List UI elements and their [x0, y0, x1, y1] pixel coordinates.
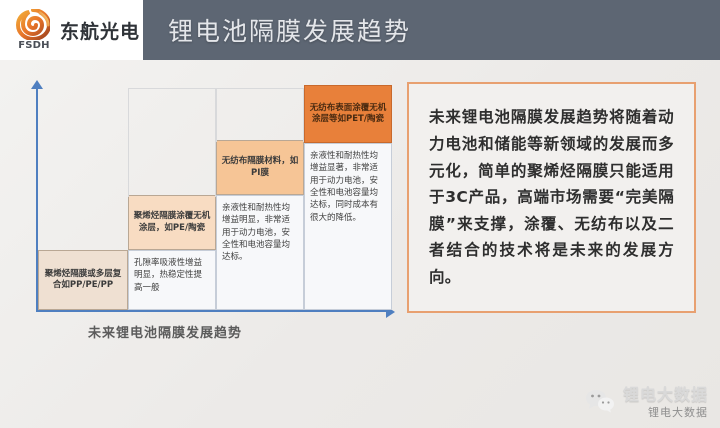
page-title: 锂电池隔膜发展趋势: [168, 0, 411, 60]
wechat-icon: [585, 389, 615, 413]
footer-text-group: 锂电大数据 锂电大数据: [623, 381, 708, 420]
chart-caption: 未来锂电池隔膜发展趋势: [88, 322, 242, 341]
staircase-chart: 聚烯烃隔膜或多层复合如PP/PE/PP 聚烯烃隔膜涂覆无机涂层，如PE/陶瓷 孔…: [18, 82, 398, 332]
chart-step-label-3: 无纺布隔膜材料，如PI膜: [216, 140, 304, 195]
chart-column-1: 聚烯烃隔膜或多层复合如PP/PE/PP: [38, 250, 128, 310]
chart-column-2: 聚烯烃隔膜涂覆无机涂层，如PE/陶瓷 孔隙率吸液性增益明显，热稳定性提高一般: [128, 195, 216, 310]
slide-body: 聚烯烃隔膜或多层复合如PP/PE/PP 聚烯烃隔膜涂覆无机涂层，如PE/陶瓷 孔…: [0, 60, 720, 428]
chart-step-label-2: 聚烯烃隔膜涂覆无机涂层，如PE/陶瓷: [128, 195, 216, 250]
company-logo: FSDH: [14, 9, 54, 51]
y-axis-arrow-icon: [31, 80, 43, 89]
chart-step-desc-3: 亲液性和耐热性均增益明显，非常适用于动力电池，安全性和电池容量均达标。: [216, 195, 304, 310]
footer-watermark: 锂电大数据 锂电大数据: [585, 381, 708, 420]
chart-step-desc-2: 孔隙率吸液性增益明显，热稳定性提高一般: [128, 250, 216, 310]
slide-page: FSDH 东航光电 锂电池隔膜发展趋势 聚烯烃隔膜或多层复合如PP/PE/PP …: [0, 0, 720, 428]
chart-step-label-4: 无纺布表面涂覆无机涂层等如PET/陶瓷: [304, 85, 392, 143]
callout-box: 未来锂电池隔膜发展趋势将随着动力电池和储能等新领域的发展而多元化，简单的聚烯烃隔…: [407, 82, 696, 313]
footer-account-sub: 锂电大数据: [648, 404, 708, 420]
chart-column-4: 无纺布表面涂覆无机涂层等如PET/陶瓷 亲液性和耐热性均增益显著，非常适用于动力…: [304, 85, 392, 310]
brand-logo-plate: FSDH 东航光电: [0, 0, 143, 60]
chart-guide-2: [128, 88, 216, 197]
brand-name-cn: 东航光电: [60, 17, 140, 44]
flame-swirl-icon: [16, 9, 50, 40]
chart-column-3: 无纺布隔膜材料，如PI膜 亲液性和耐热性均增益明显，非常适用于动力电池，安全性和…: [216, 140, 304, 310]
footer-account-name: 锂电大数据: [623, 381, 708, 405]
chart-step-desc-4: 亲液性和耐热性均增益显著，非常适用于动力电池，安全性和电池容量均达标，同时成本有…: [304, 143, 392, 310]
x-axis-line: [36, 310, 388, 312]
slide-header: FSDH 东航光电 锂电池隔膜发展趋势: [0, 0, 720, 60]
chart-step-label-1: 聚烯烃隔膜或多层复合如PP/PE/PP: [38, 250, 128, 310]
chart-guide-3: [216, 88, 304, 142]
callout-text: 未来锂电池隔膜发展趋势将随着动力电池和储能等新领域的发展而多元化，简单的聚烯烃隔…: [429, 104, 674, 291]
logo-wordmark: FSDH: [14, 40, 54, 51]
